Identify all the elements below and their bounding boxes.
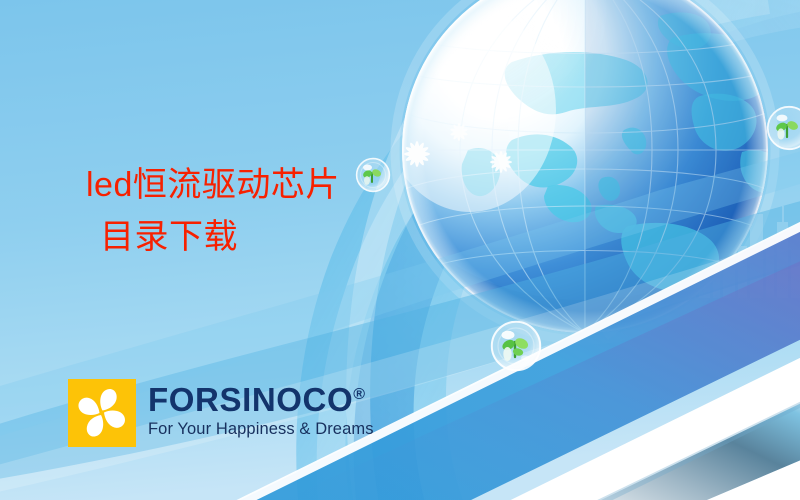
headline-line-2: 目录下载 [86, 217, 340, 257]
banner-canvas: led恒流驱动芯片 目录下载 FORSINOCO® For Your Happi… [0, 0, 800, 500]
bubble-sprout-small [356, 158, 390, 192]
registered-trademark-icon: ® [353, 386, 365, 403]
logo-wordmark: FORSINOCO® For Your Happiness & Dreams [148, 379, 374, 439]
headline-title: led恒流驱动芯片 目录下载 [86, 165, 340, 257]
bubble-sprout-large [491, 321, 541, 371]
brand-tagline: For Your Happiness & Dreams [148, 420, 374, 439]
four-petal-pinwheel-icon [68, 379, 136, 447]
company-logo: FORSINOCO® For Your Happiness & Dreams [68, 379, 374, 447]
brand-name-text: FORSINOCO [148, 381, 353, 418]
brand-name: FORSINOCO® [148, 383, 374, 416]
headline-line-1: led恒流驱动芯片 [86, 166, 340, 204]
